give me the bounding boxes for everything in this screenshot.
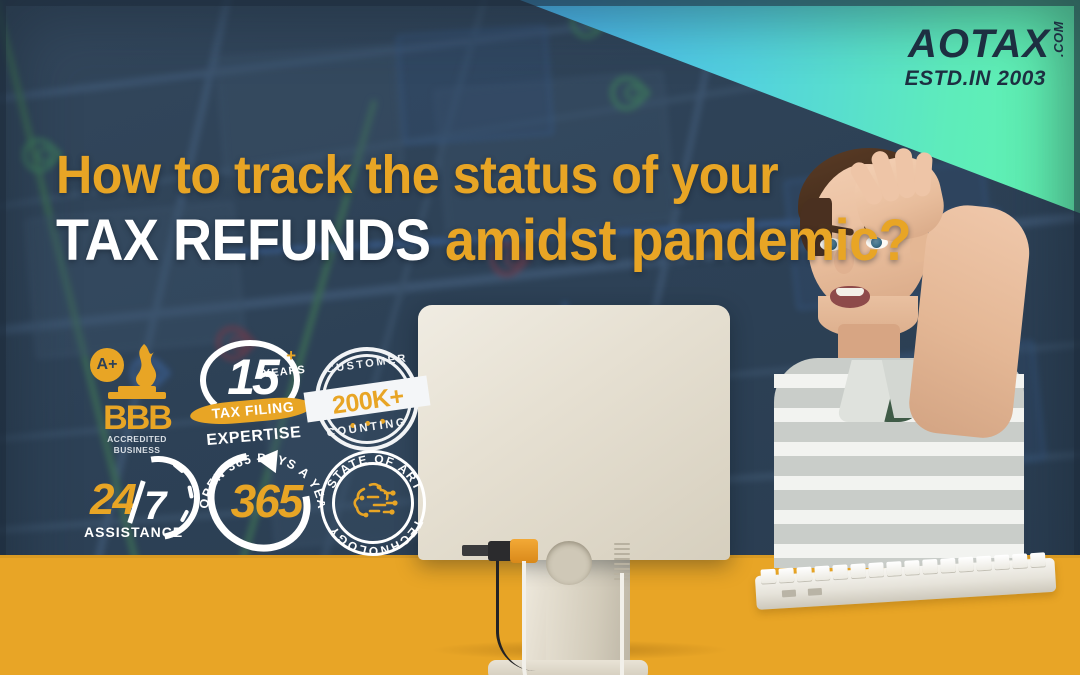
orange-plug (510, 539, 538, 563)
keyboard-usb-port-2 (808, 588, 822, 596)
keyboard-usb-port-1 (782, 590, 796, 598)
trust-badge-cluster: A+ BBB ACCREDITED BUSINESS 15 + YEARS TA… (88, 338, 438, 553)
white-cable-secondary (566, 573, 624, 675)
person-teeth (836, 288, 864, 296)
logo-tld: .COM (1052, 21, 1065, 57)
badge-open-365: 365 OPEN 365 DAYS A YEAR. (200, 452, 325, 556)
logo-wordmark: AOTAX .COM (908, 24, 1050, 64)
headline-line-1: How to track the status of your (56, 148, 911, 203)
bbb-pedestal (108, 392, 166, 399)
tech-arc-labels: STATE OF ART TECHNOLOGY (318, 450, 430, 556)
badge-bbb-accredited: A+ BBB ACCREDITED BUSINESS (88, 344, 186, 452)
badge-state-of-art-tech: STATE OF ART TECHNOLOGY (318, 450, 430, 556)
tech-top-label: STATE OF ART (324, 452, 425, 493)
headline: How to track the status of your TAX REFU… (56, 148, 976, 270)
bbb-letters: BBB (88, 401, 186, 435)
white-cable (522, 561, 568, 675)
headline-line-2: TAX REFUNDS amidst pandemic? (56, 211, 911, 270)
svg-text:STATE OF ART: STATE OF ART (324, 452, 425, 493)
tech-bottom-label: TECHNOLOGY (326, 517, 426, 556)
badge-customer-count: CUSTOMER 200K+ COUNTING (306, 340, 428, 460)
svg-text:TECHNOLOGY: TECHNOLOGY (326, 517, 426, 556)
aotax-promo-banner: AOTAX .COM ESTD.IN 2003 How to track the… (0, 0, 1080, 675)
svg-text:OPEN 365 DAYS A YEAR.: OPEN 365 DAYS A YEAR. (200, 452, 325, 510)
logo-name: AOTAX (908, 22, 1050, 66)
years-plus: + (286, 346, 296, 366)
monitor-back-panel (418, 305, 730, 560)
bbb-line2: BUSINESS (114, 445, 161, 455)
bbb-subtitle: ACCREDITED BUSINESS (88, 434, 186, 455)
years-subtitle: EXPERTISE (197, 423, 310, 451)
headline-highlight: TAX REFUNDS (56, 208, 430, 273)
bbb-line1: ACCREDITED (107, 434, 167, 444)
headline-line-2-rest: amidst pandemic? (445, 208, 911, 273)
open365-arc-text: OPEN 365 DAYS A YEAR. (200, 452, 325, 556)
badge-24-7-assistance: 24 7 ASSISTANCE (88, 456, 206, 552)
badge-years-expertise: 15 + YEARS TAX FILING EXPERTISE (192, 338, 310, 458)
logo-tagline: ESTD.IN 2003 (905, 67, 1050, 91)
open365-arc-label: OPEN 365 DAYS A YEAR. (200, 452, 325, 510)
aotax-logo: AOTAX .COM ESTD.IN 2003 (905, 24, 1050, 91)
assistance-days: 7 (144, 486, 166, 526)
assistance-label: ASSISTANCE (84, 524, 204, 540)
